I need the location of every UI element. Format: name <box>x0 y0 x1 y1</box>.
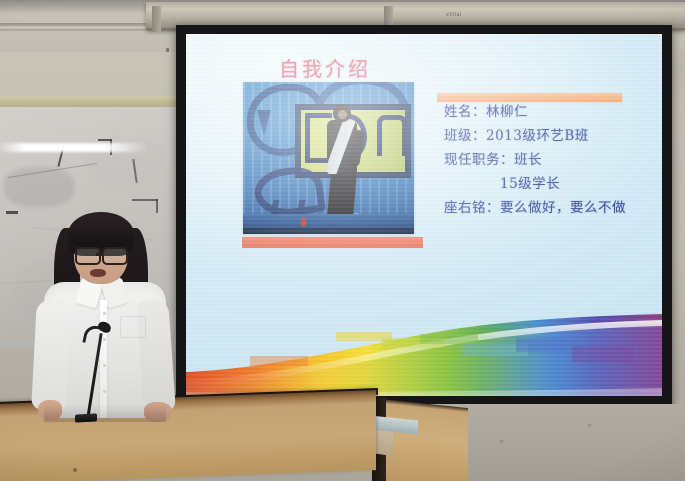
roller-bracket-left <box>152 6 161 32</box>
photo-projection-sheen <box>243 82 414 234</box>
presenter-shirt-button-4 <box>103 390 106 393</box>
classroom-presentation-scene: eVital 自我介绍 <box>0 0 685 481</box>
presenter-glasses-bridge <box>96 253 103 256</box>
floor-mark-1 <box>500 440 503 443</box>
presenter-arm-left <box>31 299 71 411</box>
slide-rainbow-wave-decoration <box>186 310 662 396</box>
info-line-class: 班级：2013级环艺B班 <box>444 124 654 148</box>
slide-title: 自我介绍 <box>279 53 371 82</box>
board-marker-dash <box>6 211 18 214</box>
presenter-glasses-left-lens <box>75 247 101 265</box>
info-line-position-second: 15级学长 <box>444 172 654 196</box>
info-line-position: 现任职务：班长 <box>444 148 654 172</box>
student-portrait-photo <box>243 82 414 234</box>
lectern-surface-mark <box>73 468 77 472</box>
presenter-glasses-right-lens <box>102 247 128 265</box>
accent-bar-under-photo <box>242 237 423 248</box>
presenter <box>24 208 182 428</box>
presenter-shirt-pocket <box>120 316 146 338</box>
floor-mark-2 <box>588 424 591 427</box>
roller-brand-label: eVital <box>446 12 461 18</box>
presenter-hair-fringe <box>70 230 132 248</box>
presentation-slide: 自我介绍 <box>186 34 662 396</box>
slide-info-text-block: 姓名：林柳仁 班级：2013级环艺B班 现任职务：班长 15级学长 座右铭：要么… <box>444 100 654 220</box>
presenter-shirt-button-3 <box>103 364 106 367</box>
board-marker-stroke-5 <box>132 199 158 201</box>
whiteboard-light-glare <box>0 143 148 152</box>
presenter-lower-shadow <box>44 404 166 422</box>
info-line-name: 姓名：林柳仁 <box>444 100 654 124</box>
info-line-motto: 座右铭：要么做好，要么不做 <box>444 196 654 220</box>
presenter-shirt-button-1 <box>103 312 106 315</box>
presenter-shirt-placket <box>100 300 107 418</box>
projector-screen-frame: 自我介绍 <box>176 25 672 407</box>
presenter-mouth <box>90 269 106 277</box>
microphone-base <box>75 413 97 422</box>
